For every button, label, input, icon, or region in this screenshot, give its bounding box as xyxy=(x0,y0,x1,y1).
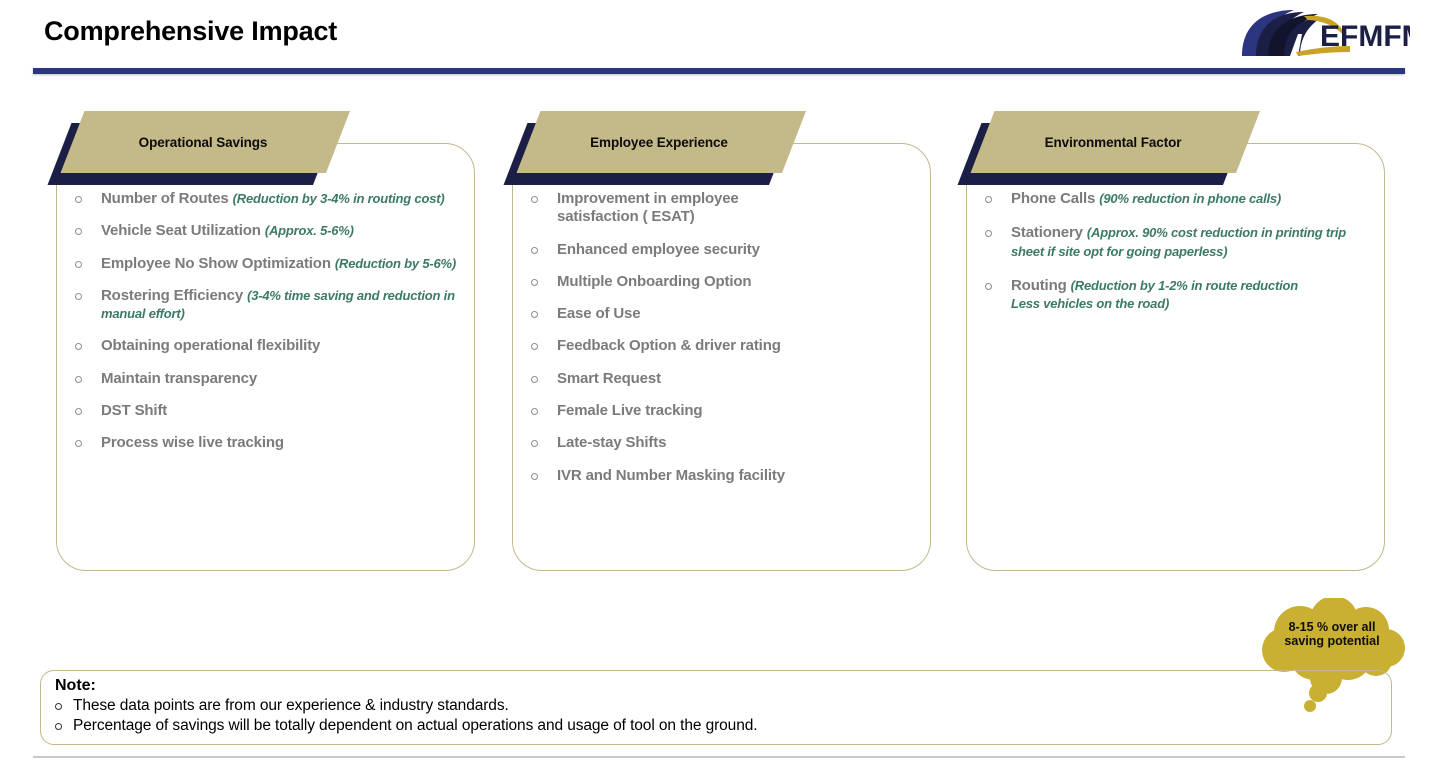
bullet-circle-icon xyxy=(531,370,557,386)
card-title: Environmental Factor xyxy=(960,111,1260,173)
list-item: Stationery (Approx. 90% cost reduction i… xyxy=(985,224,1372,261)
list-item-label: DST Shift xyxy=(101,402,167,419)
title-divider xyxy=(33,68,1405,74)
card-employee-experience: Employee Experience Improvement in emplo… xyxy=(512,143,931,571)
banner-gold-shape xyxy=(50,111,350,173)
list-item: Late-stay Shifts xyxy=(531,434,918,452)
card-environmental-factor: Environmental Factor Phone Calls (90% re… xyxy=(966,143,1385,571)
note-item-text: Percentage of savings will be totally de… xyxy=(73,716,757,736)
list-item: Obtaining operational flexibility xyxy=(75,337,462,355)
list-item-note: (90% reduction in phone calls) xyxy=(1099,191,1281,206)
list-item: Enhanced employee security xyxy=(531,241,918,259)
list-item-label: Multiple Onboarding Option xyxy=(557,273,751,290)
list-item: Rostering Efficiency (3-4% time saving a… xyxy=(75,287,462,324)
page-title: Comprehensive Impact xyxy=(44,16,337,47)
bullet-circle-icon xyxy=(75,402,101,418)
bullet-circle-icon xyxy=(75,190,101,206)
list-item: DST Shift xyxy=(75,402,462,420)
banner-shadow-shape xyxy=(493,123,793,185)
footer-divider xyxy=(33,756,1405,758)
list-item-note: (Reduction by 3-4% in routing cost) xyxy=(233,191,445,206)
list-item-note: (Approx. 5-6%) xyxy=(265,223,354,238)
list-item: Process wise live tracking xyxy=(75,434,462,452)
card-title: Operational Savings xyxy=(50,111,350,173)
bullet-circle-icon xyxy=(531,467,557,483)
list-item-label: Female Live tracking xyxy=(557,402,702,419)
list-item: IVR and Number Masking facility xyxy=(531,467,918,485)
list-item-note: (Reduction by 5-6%) xyxy=(335,256,456,271)
list-item-label: Stationery xyxy=(1011,224,1083,241)
bullet-circle-icon xyxy=(531,305,557,321)
list-item-label: Smart Request xyxy=(557,370,661,387)
list-item: Number of Routes (Reduction by 3-4% in r… xyxy=(75,190,462,208)
list-item: Phone Calls (90% reduction in phone call… xyxy=(985,190,1372,208)
list-item: Routing (Reduction by 1-2% in route redu… xyxy=(985,277,1372,314)
card-header-banner: Employee Experience xyxy=(493,111,813,185)
note-list-item: These data points are from our experienc… xyxy=(55,696,1391,716)
note-list-item: Percentage of savings will be totally de… xyxy=(55,716,1391,736)
bullet-circle-icon xyxy=(531,434,557,450)
bullet-circle-icon xyxy=(531,241,557,257)
bullet-circle-icon xyxy=(55,702,73,713)
list-item-label: Feedback Option & driver rating xyxy=(557,337,781,354)
bullet-circle-icon xyxy=(985,277,1011,293)
list-item-label: Ease of Use xyxy=(557,305,640,322)
bullet-circle-icon xyxy=(75,287,101,303)
bullet-circle-icon xyxy=(75,370,101,386)
efmfm-logo: EFMFM xyxy=(1238,8,1410,60)
list-item-label: Late-stay Shifts xyxy=(557,434,666,451)
list-item-label: Process wise live tracking xyxy=(101,434,284,451)
bullet-circle-icon xyxy=(55,722,73,733)
bullet-circle-icon xyxy=(75,337,101,353)
bullet-circle-icon xyxy=(985,224,1011,240)
card-header-banner: Environmental Factor xyxy=(947,111,1267,185)
list-item: Improvement in employee satisfaction ( E… xyxy=(531,190,918,227)
card-operational-savings: Operational Savings Number of Routes (Re… xyxy=(56,143,475,571)
card-item-list: Number of Routes (Reduction by 3-4% in r… xyxy=(75,190,462,467)
list-item-label: Enhanced employee security xyxy=(557,241,760,258)
list-item: Ease of Use xyxy=(531,305,918,323)
card-item-list: Improvement in employee satisfaction ( E… xyxy=(531,190,918,499)
banner-shadow-shape xyxy=(947,123,1247,185)
list-item-label: IVR and Number Masking facility xyxy=(557,467,785,484)
bullet-circle-icon xyxy=(75,222,101,238)
bullet-circle-icon xyxy=(531,402,557,418)
list-item: Female Live tracking xyxy=(531,402,918,420)
list-item-label: Routing xyxy=(1011,277,1067,294)
bullet-circle-icon xyxy=(75,434,101,450)
note-item-text: These data points are from our experienc… xyxy=(73,696,509,716)
note-title: Note: xyxy=(55,677,1391,695)
bullet-circle-icon xyxy=(75,255,101,271)
list-item-label: Employee No Show Optimization xyxy=(101,255,331,272)
list-item: Vehicle Seat Utilization (Approx. 5-6%) xyxy=(75,222,462,240)
list-item-label: Maintain transparency xyxy=(101,370,257,387)
card-header-banner: Operational Savings xyxy=(37,111,357,185)
banner-shadow-shape xyxy=(37,123,337,185)
bullet-circle-icon xyxy=(531,273,557,289)
banner-gold-shape xyxy=(506,111,806,173)
banner-gold-shape xyxy=(960,111,1260,173)
list-item-label: Obtaining operational flexibility xyxy=(101,337,320,354)
list-item: Smart Request xyxy=(531,370,918,388)
bullet-circle-icon xyxy=(985,190,1011,206)
note-box: Note: These data points are from our exp… xyxy=(40,670,1392,745)
list-item: Maintain transparency xyxy=(75,370,462,388)
note-list: These data points are from our experienc… xyxy=(55,696,1391,736)
list-item: Employee No Show Optimization (Reduction… xyxy=(75,255,462,273)
list-item: Feedback Option & driver rating xyxy=(531,337,918,355)
list-item-label: Phone Calls xyxy=(1011,190,1095,207)
card-item-list: Phone Calls (90% reduction in phone call… xyxy=(985,190,1372,329)
bullet-circle-icon xyxy=(531,337,557,353)
list-item-label: Vehicle Seat Utilization xyxy=(101,222,261,239)
list-item-label: Number of Routes xyxy=(101,190,229,207)
card-title: Employee Experience xyxy=(506,111,806,173)
list-item: Multiple Onboarding Option xyxy=(531,273,918,291)
list-item-label: Rostering Efficiency xyxy=(101,287,243,304)
svg-text:EFMFM: EFMFM xyxy=(1320,20,1410,53)
list-item-label: Improvement in employee satisfaction ( E… xyxy=(557,190,739,225)
bullet-circle-icon xyxy=(531,190,557,206)
